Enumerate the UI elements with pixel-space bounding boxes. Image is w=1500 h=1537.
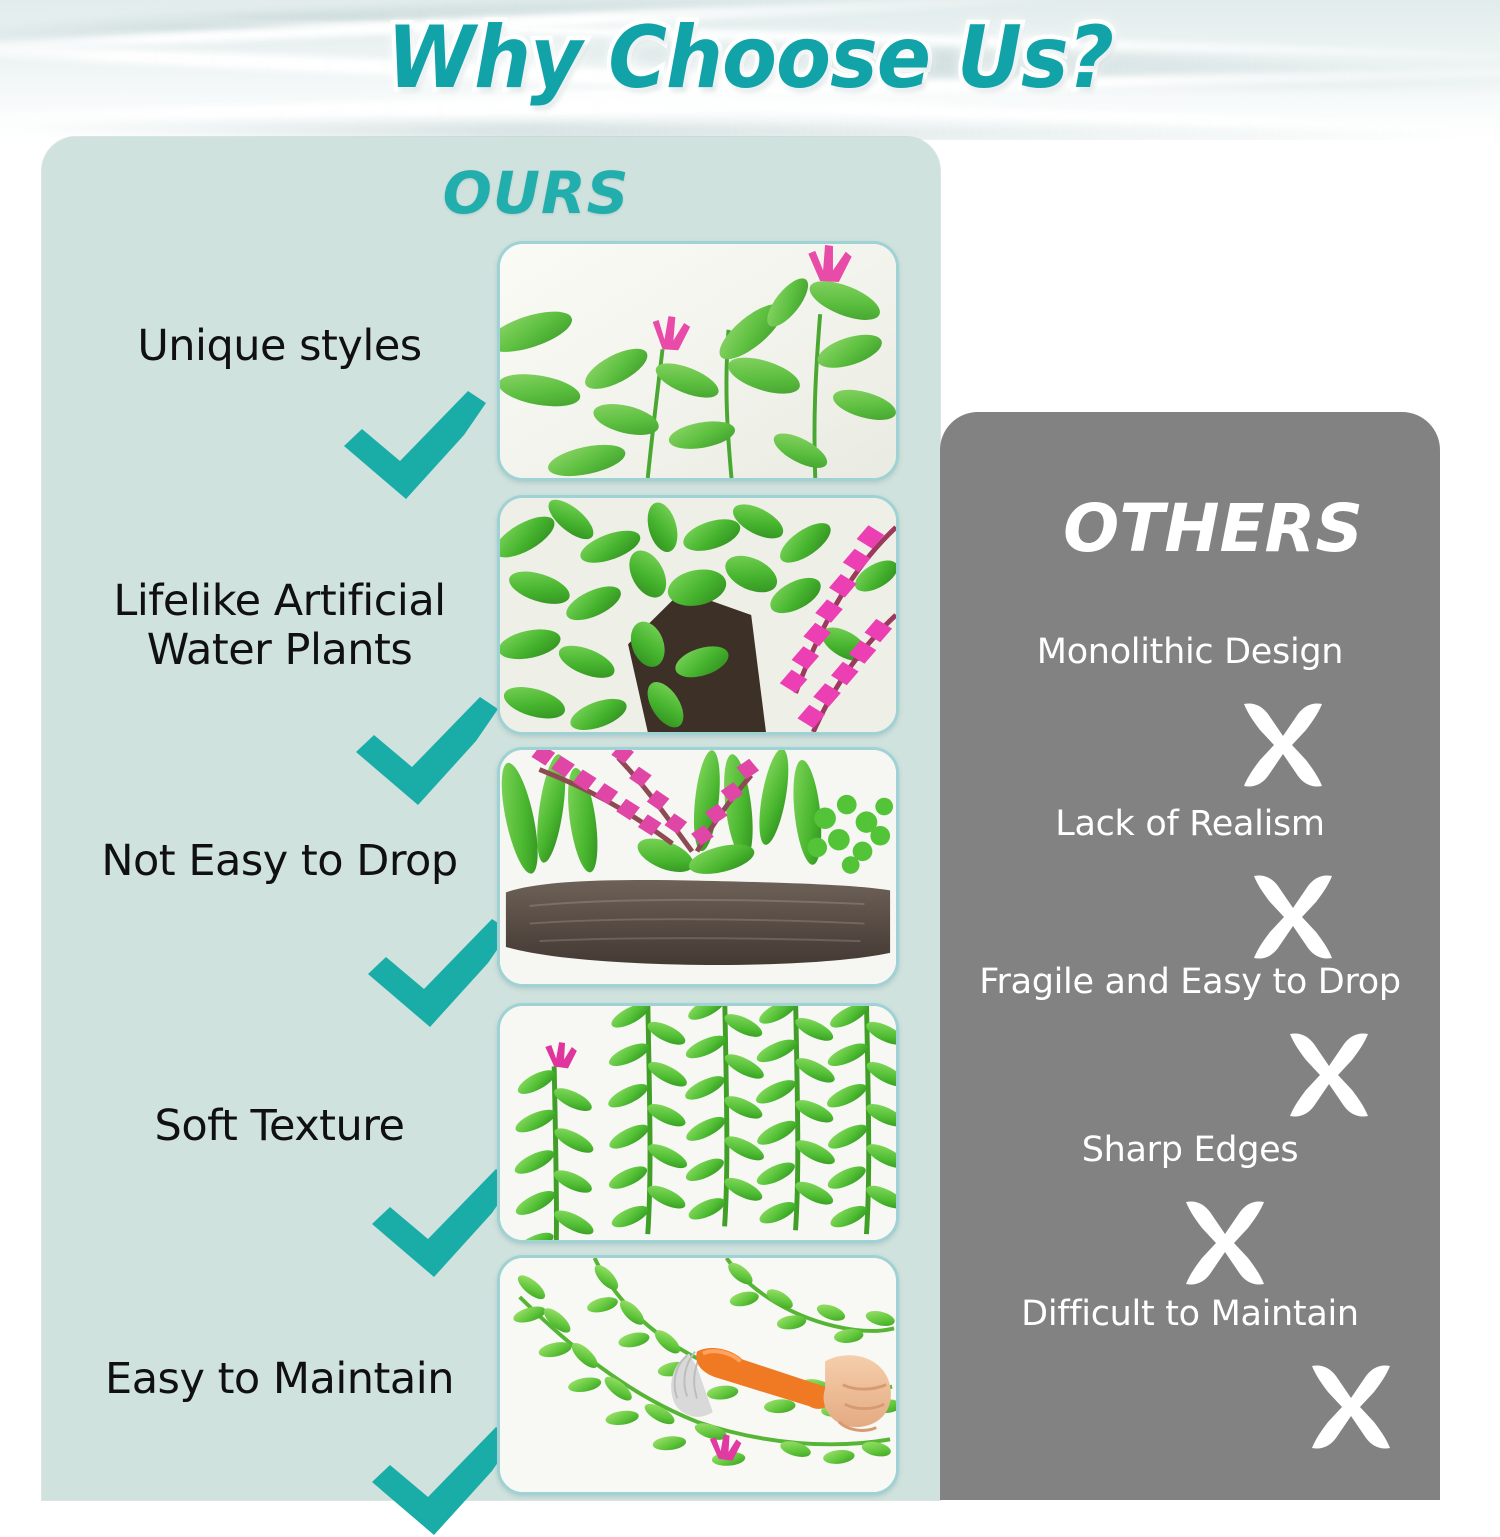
cross-mark-icon bbox=[1306, 1362, 1396, 1452]
others-con-label: Sharp Edges bbox=[940, 1130, 1440, 1170]
ours-feature-photo bbox=[497, 747, 899, 987]
cross-mark-icon bbox=[1180, 1198, 1270, 1288]
others-con-label: Lack of Realism bbox=[940, 804, 1440, 844]
others-con-label: Difficult to Maintain bbox=[940, 1294, 1440, 1334]
ours-feature-label-line: Easy to Maintain bbox=[52, 1355, 507, 1404]
ours-panel-title: OURS bbox=[42, 159, 940, 227]
check-mark-icon bbox=[368, 1167, 518, 1279]
ours-feature-photo bbox=[497, 1255, 899, 1495]
ours-feature-photo bbox=[497, 241, 899, 481]
check-mark-icon bbox=[340, 389, 490, 501]
ours-feature-photo bbox=[497, 495, 899, 735]
cross-mark-icon bbox=[1248, 872, 1338, 962]
others-panel-title: OTHERS bbox=[940, 490, 1440, 567]
page-title: Why Choose Us? bbox=[53, 8, 1448, 108]
ours-feature-label-line: Soft Texture bbox=[52, 1102, 507, 1151]
others-panel: OTHERS Monolithic Design Lack of Realism… bbox=[940, 412, 1440, 1500]
ours-feature-label-line: Water Plants bbox=[52, 626, 507, 675]
ours-feature-photo bbox=[497, 1003, 899, 1243]
ours-feature-label: Not Easy to Drop bbox=[52, 837, 507, 886]
ours-feature-label: Soft Texture bbox=[52, 1102, 507, 1151]
ours-feature-label-line: Not Easy to Drop bbox=[52, 837, 507, 886]
ours-feature-label: Unique styles bbox=[52, 322, 507, 371]
ours-feature-label-line: Lifelike Artificial bbox=[52, 577, 507, 626]
others-con-label: Fragile and Easy to Drop bbox=[940, 962, 1440, 1002]
check-mark-icon bbox=[368, 1425, 518, 1537]
ours-feature-label: Lifelike Artificial Water Plants bbox=[52, 577, 507, 675]
cross-mark-icon bbox=[1284, 1030, 1374, 1120]
ours-feature-label: Easy to Maintain bbox=[52, 1355, 507, 1404]
ours-feature-label-line: Unique styles bbox=[52, 322, 507, 371]
cross-mark-icon bbox=[1238, 700, 1328, 790]
others-con-label: Monolithic Design bbox=[940, 632, 1440, 672]
check-mark-icon bbox=[364, 917, 514, 1029]
ours-panel: OURS Unique styles bbox=[42, 137, 940, 1500]
check-mark-icon bbox=[352, 695, 502, 807]
